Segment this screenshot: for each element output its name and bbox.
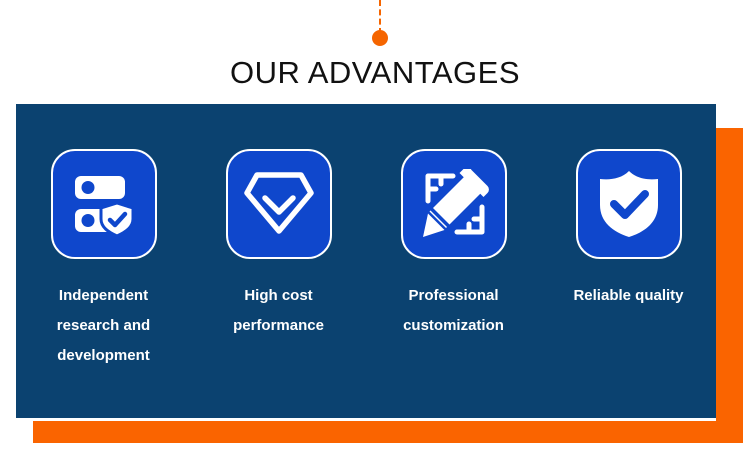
advantage-item[interactable]: Reliable quality: [541, 149, 716, 311]
advantage-item[interactable]: High cost performance: [191, 149, 366, 341]
accent-bar-vertical: [716, 128, 743, 443]
advantage-item[interactable]: Independent research and development: [16, 149, 191, 371]
server-shield-check-icon: [51, 149, 157, 259]
dotted-line-dot-marker: [371, 0, 389, 52]
diamond-check-icon: [226, 149, 332, 259]
pencil-ruler-icon: [401, 149, 507, 259]
advantage-label: Reliable quality: [554, 281, 704, 311]
advantage-item[interactable]: Professional customization: [366, 149, 541, 341]
shield-check-icon: [576, 149, 682, 259]
advantage-label: High cost performance: [204, 281, 354, 341]
orange-dot-icon: [372, 30, 388, 46]
advantage-label: Independent research and development: [29, 281, 179, 371]
dotted-line: [379, 0, 381, 34]
advantages-list: Independent research and development Hig…: [16, 104, 716, 418]
advantage-label: Professional customization: [379, 281, 529, 341]
page-title: OUR ADVANTAGES: [0, 54, 750, 92]
accent-bar-horizontal: [33, 421, 743, 443]
